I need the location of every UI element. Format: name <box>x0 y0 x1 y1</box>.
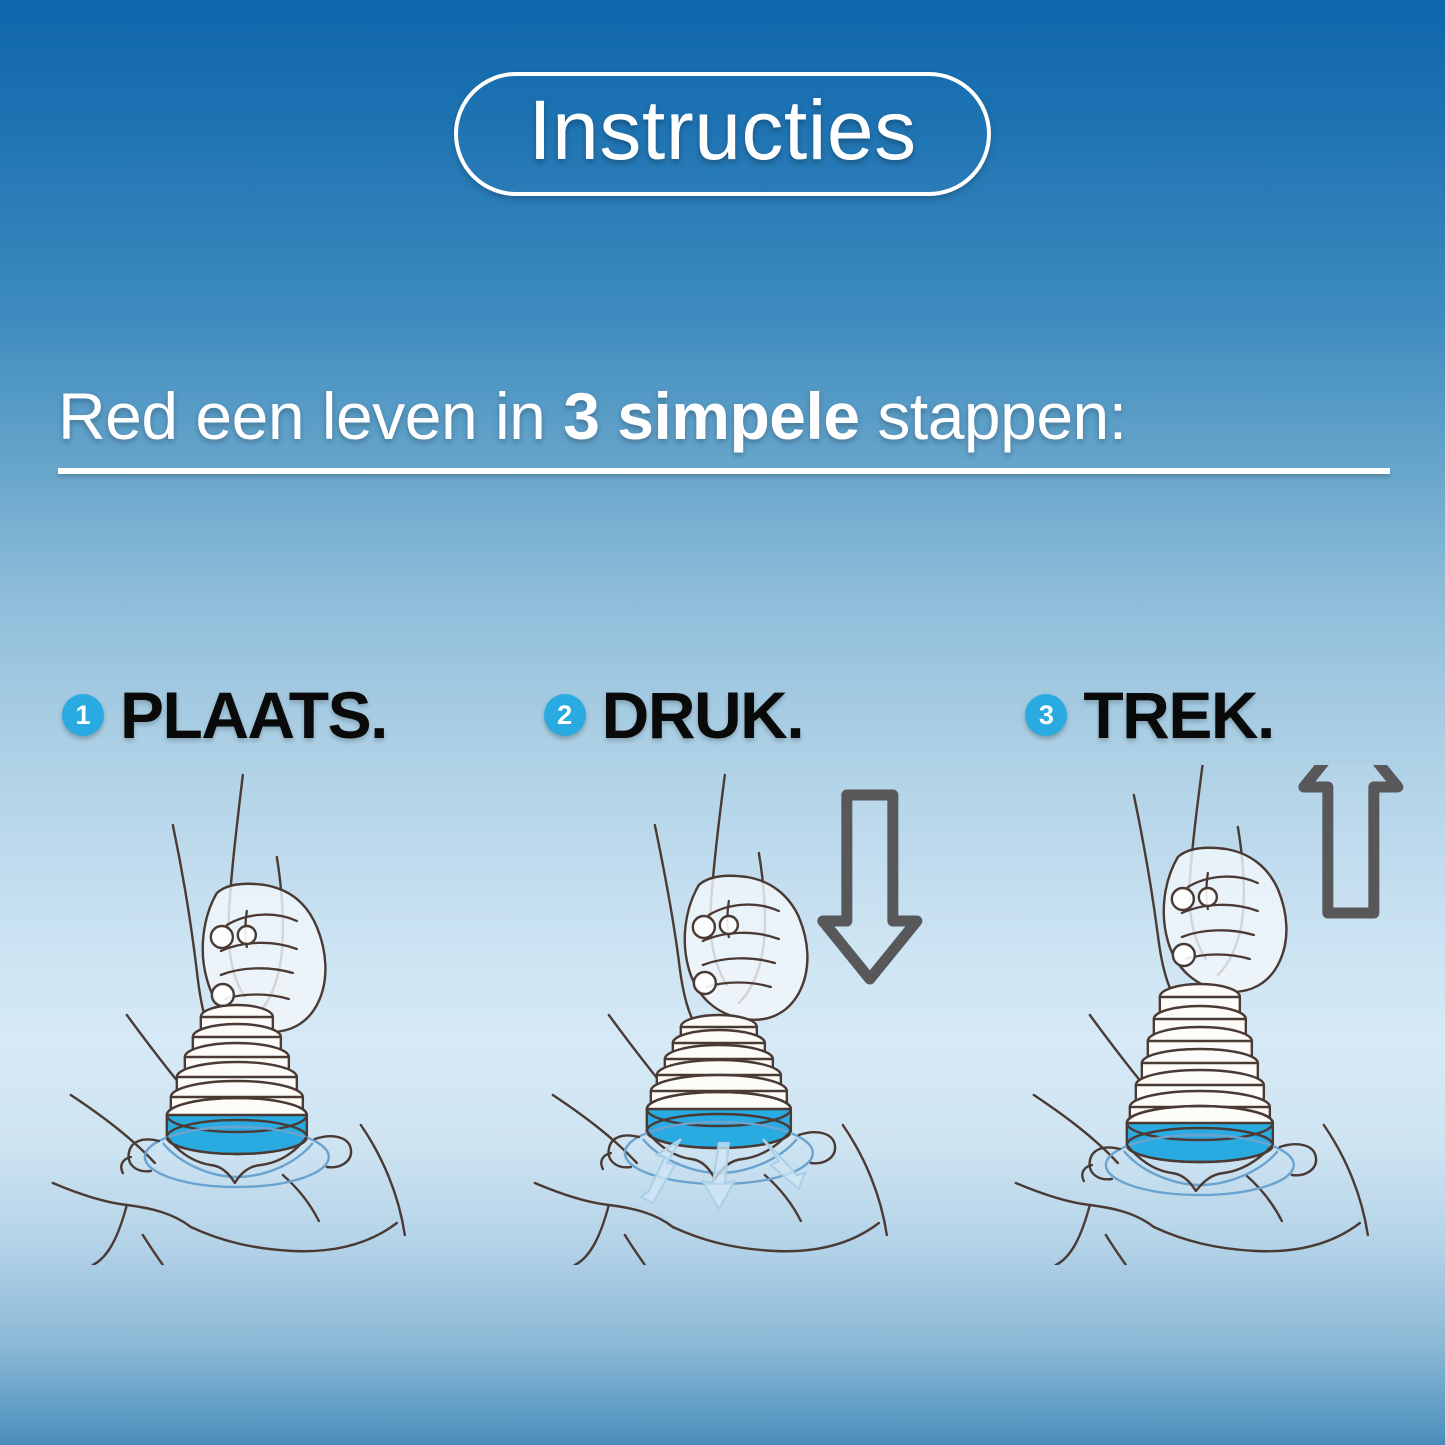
step-2-header: 2 DRUK. <box>544 682 804 748</box>
step-2-illustration <box>482 765 964 1265</box>
down-arrow-icon <box>823 795 917 979</box>
step-3-number-badge: 3 <box>1025 694 1067 736</box>
subtitle-divider <box>58 468 1390 474</box>
step-3-illustration <box>963 765 1445 1265</box>
step-3-header: 3 TREK. <box>1025 682 1274 748</box>
step-1-number-badge: 1 <box>62 694 104 736</box>
step-3-label: TREK. <box>1083 682 1274 748</box>
step-1: 1 PLAATS. <box>0 660 482 1280</box>
step-2-label: DRUK. <box>602 682 804 748</box>
step-1-header: 1 PLAATS. <box>62 682 387 748</box>
subtitle-area: Red een leven in 3 simpele stappen: <box>58 378 1390 474</box>
subtitle-emphasis: 3 simpele <box>563 379 859 453</box>
steps-row: 1 PLAATS. <box>0 660 1445 1280</box>
page-title: Instructies <box>528 88 916 172</box>
step-1-illustration <box>0 765 482 1265</box>
step-2: 2 DRUK. <box>482 660 964 1280</box>
step-1-label: PLAATS. <box>120 682 387 748</box>
title-area: Instructies <box>0 72 1445 196</box>
subtitle-part-1: Red een leven in <box>58 379 563 453</box>
subtitle-text: Red een leven in 3 simpele stappen: <box>58 378 1390 454</box>
step-3: 3 TREK. <box>963 660 1445 1280</box>
up-arrow-icon <box>1304 765 1398 913</box>
subtitle-part-2: stappen: <box>860 379 1127 453</box>
title-pill: Instructies <box>454 72 990 196</box>
step-2-number-badge: 2 <box>544 694 586 736</box>
instruction-poster: Instructies Red een leven in 3 simpele s… <box>0 0 1445 1445</box>
